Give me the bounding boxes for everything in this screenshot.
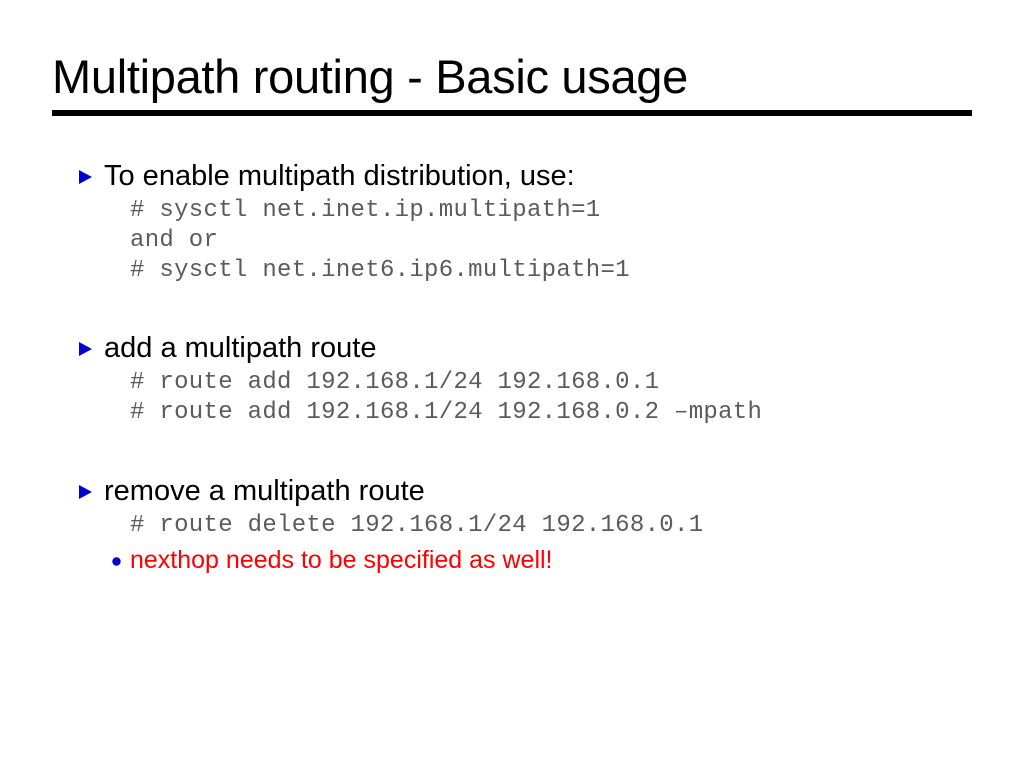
code-line: # route delete 192.168.1/24 192.168.0.1	[130, 511, 1024, 541]
bullet-label-3: remove a multipath route	[104, 473, 425, 509]
code-line: # sysctl net.inet6.ip6.multipath=1	[130, 256, 1024, 286]
bullet-label-2: add a multipath route	[104, 330, 376, 366]
sub-bullet-item: nexthop needs to be specified as well!	[112, 544, 1024, 576]
bullet-item-1: To enable multipath distribution, use:	[78, 158, 998, 196]
code-block-3: # route delete 192.168.1/24 192.168.0.1	[130, 511, 1024, 541]
content-group-1: To enable multipath distribution, use: #…	[78, 158, 998, 286]
code-line: # sysctl net.inet.ip.multipath=1	[130, 196, 1024, 226]
code-line: # route add 192.168.1/24 192.168.0.2 –mp…	[130, 398, 1024, 428]
warning-note: nexthop needs to be specified as well!	[130, 544, 553, 576]
content-group-3: remove a multipath route # route delete …	[78, 473, 998, 576]
title-block: Multipath routing - Basic usage	[52, 48, 972, 106]
slide-canvas: Multipath routing - Basic usage To enabl…	[0, 0, 1024, 768]
bullet-item-3: remove a multipath route	[78, 473, 998, 511]
triangle-right-icon	[78, 169, 94, 185]
code-line: # route add 192.168.1/24 192.168.0.1	[130, 368, 1024, 398]
title-underline-rule	[52, 110, 972, 116]
bullet-label-1: To enable multipath distribution, use:	[104, 158, 575, 194]
triangle-right-icon	[78, 484, 94, 500]
code-line: and or	[130, 226, 1024, 256]
code-block-1: # sysctl net.inet.ip.multipath=1 and or …	[130, 196, 1024, 286]
triangle-right-icon	[78, 341, 94, 357]
page-title: Multipath routing - Basic usage	[52, 48, 972, 106]
code-block-2: # route add 192.168.1/24 192.168.0.1 # r…	[130, 368, 1024, 428]
bullet-item-2: add a multipath route	[78, 330, 998, 368]
dot-icon	[112, 557, 121, 566]
content-group-2: add a multipath route # route add 192.16…	[78, 330, 998, 428]
